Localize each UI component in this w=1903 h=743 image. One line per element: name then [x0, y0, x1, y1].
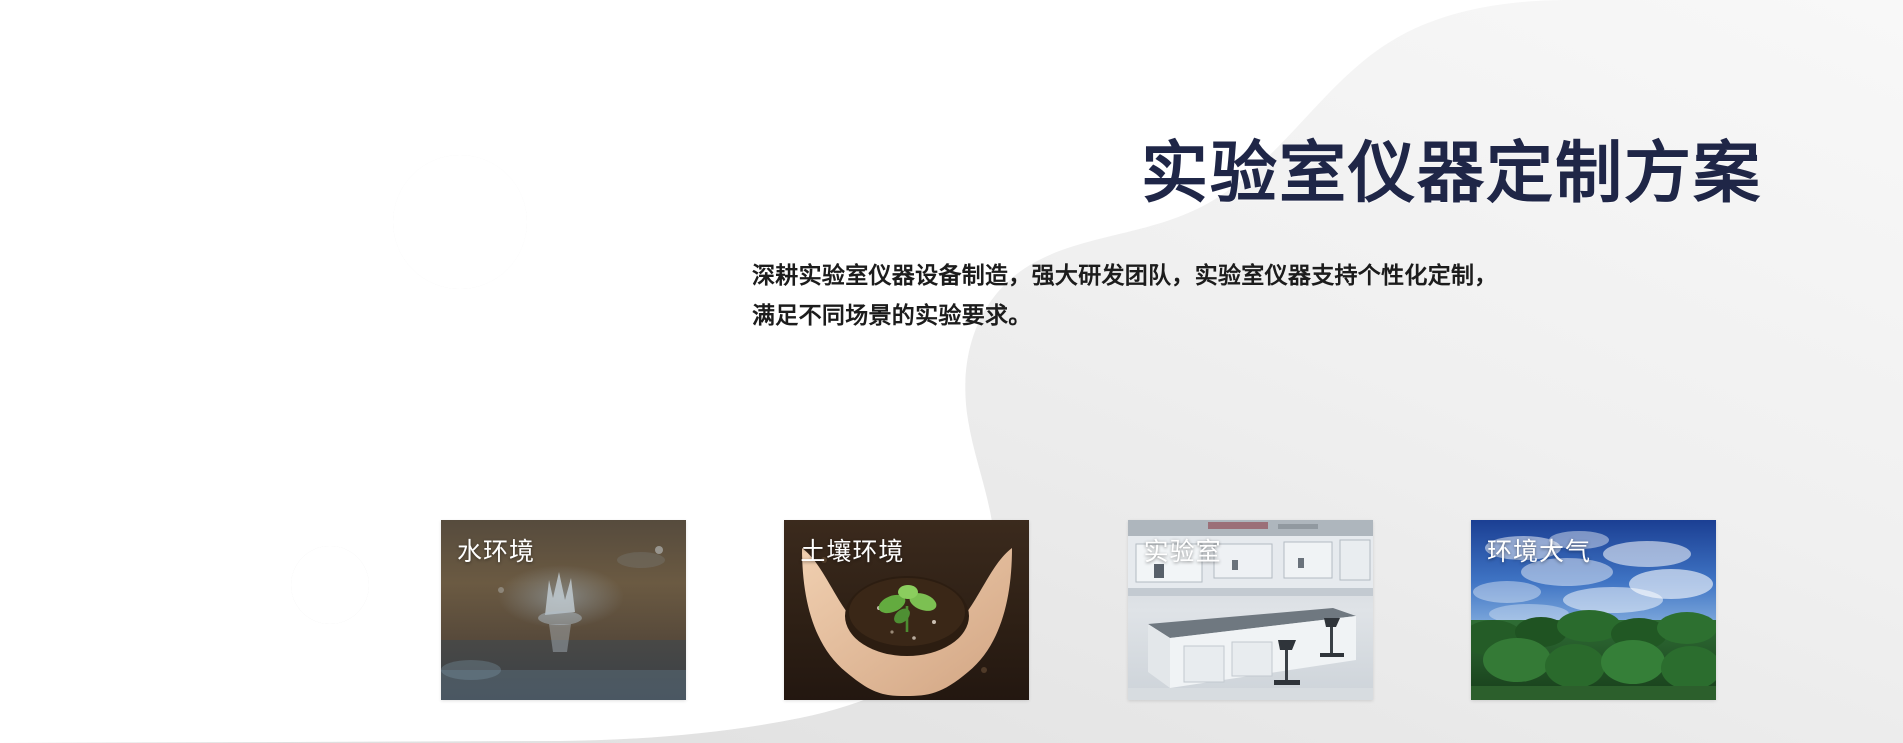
decorative-circle-large	[393, 155, 527, 289]
category-card-label: 土壤环境	[800, 532, 904, 568]
hero-banner: 实验室仪器定制方案 深耕实验室仪器设备制造，强大研发团队，实验室仪器支持个性化定…	[0, 0, 1903, 743]
category-card-laboratory[interactable]: 实验室	[1128, 520, 1373, 700]
category-card-label: 实验室	[1144, 532, 1222, 568]
decorative-circle-small	[291, 546, 369, 624]
page-title: 实验室仪器定制方案	[752, 136, 1762, 212]
category-card-label: 水环境	[457, 532, 535, 568]
category-card-label: 环境大气	[1487, 532, 1591, 568]
hero-description-line-2: 满足不同场景的实验要求。	[752, 302, 1032, 328]
category-card-water[interactable]: 水环境	[441, 520, 686, 700]
hero-description-line-1: 深耕实验室仪器设备制造，强大研发团队，实验室仪器支持个性化定制，	[752, 262, 1498, 288]
hero-copy: 实验室仪器定制方案 深耕实验室仪器设备制造，强大研发团队，实验室仪器支持个性化定…	[752, 136, 1762, 335]
category-card-atmosphere[interactable]: 环境大气	[1471, 520, 1716, 700]
category-card-soil[interactable]: 土壤环境	[784, 520, 1029, 700]
category-card-strip: 水环境	[441, 520, 1716, 700]
hero-description: 深耕实验室仪器设备制造，强大研发团队，实验室仪器支持个性化定制， 满足不同场景的…	[752, 212, 1717, 335]
